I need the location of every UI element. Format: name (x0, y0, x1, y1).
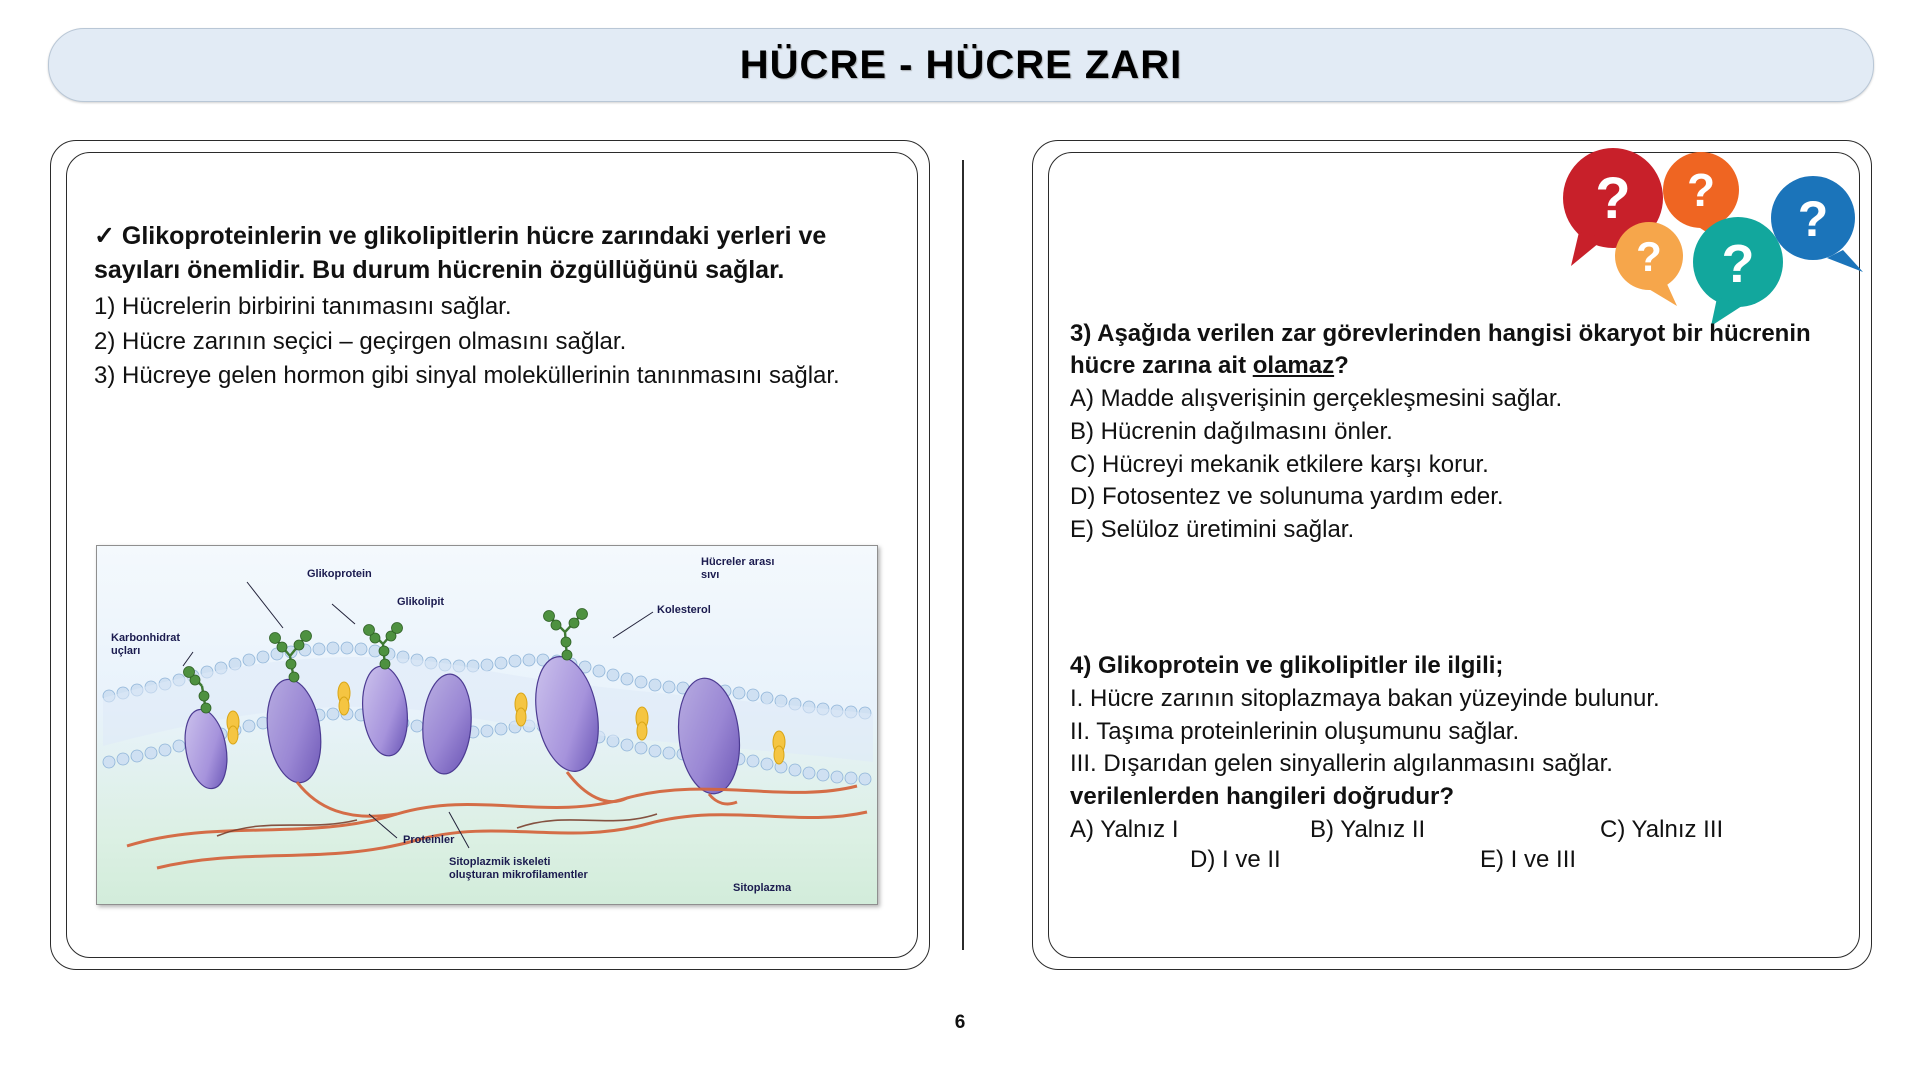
left-list-item-3: 3) Hücreye gelen hormon gibi sinyal mole… (94, 360, 894, 393)
page-title-banner: HÜCRE - HÜCRE ZARI (48, 28, 1874, 102)
figure-label-proteinler: Proteinler (403, 834, 454, 847)
figure-label-karbonhidrat-uclari: Karbonhidrat uçları (111, 632, 180, 658)
question-4-option-b[interactable]: B) Yalnız II (1310, 816, 1600, 844)
question-4-statement-3: III. Dışarıdan gelen sinyallerin algılan… (1070, 748, 1830, 781)
svg-text:?: ? (1595, 166, 1630, 231)
question-4-answers-row-1: A) Yalnız I B) Yalnız II C) Yalnız III (1070, 816, 1830, 844)
figure-label-kolesterol: Kolesterol (657, 604, 711, 617)
panel-divider (962, 160, 964, 950)
question-4-answers-row-2: D) I ve II E) I ve III (1070, 846, 1830, 874)
page-title: HÜCRE - HÜCRE ZARI (740, 43, 1182, 88)
question-4-option-a[interactable]: A) Yalnız I (1070, 816, 1310, 844)
question-4-stem: 4) Glikoprotein ve glikolipitler ile ilg… (1070, 650, 1830, 682)
bubble-light-orange: ? (1615, 222, 1683, 306)
question-bubbles-icon: ? ? ? ? ? (1555, 140, 1875, 330)
question-4-ask: verilenlerden hangileri doğrudur? (1070, 781, 1830, 814)
question-3-stem: 3) Aşağıda verilen zar görevlerinden han… (1070, 318, 1830, 382)
question-4-statement-1: I. Hücre zarının sitoplazmaya bakan yüze… (1070, 683, 1830, 716)
svg-text:?: ? (1636, 233, 1662, 280)
question-4-option-d[interactable]: D) I ve II (1190, 846, 1480, 874)
figure-label-sitoplazmik-iskelet: Sitoplazmik iskeleti oluşturan mikrofila… (449, 856, 588, 882)
question-3-option-a[interactable]: A) Madde alışverişinin gerçekleşmesini s… (1070, 383, 1830, 416)
question-3-option-b[interactable]: B) Hücrenin dağılmasını önler. (1070, 416, 1830, 449)
left-list-item-2: 2) Hücre zarının seçici – geçirgen olmas… (94, 326, 894, 359)
figure-label-glikolipit: Glikolipit (397, 596, 444, 609)
question-3-block: 3) Aşağıda verilen zar görevlerinden han… (1070, 318, 1830, 546)
question-4-block: 4) Glikoprotein ve glikolipitler ile ilg… (1070, 650, 1830, 874)
figure-label-hucreler-arasi-sivi: Hücreler arası sıvı (701, 556, 774, 582)
figure-label-sitoplazma: Sitoplazma (733, 882, 791, 895)
question-bubbles-svg: ? ? ? ? ? (1555, 140, 1875, 330)
svg-text:?: ? (1722, 234, 1755, 294)
bubble-blue: ? (1771, 176, 1863, 272)
page-number: 6 (0, 1012, 1920, 1034)
question-3-stem-emphasis: olamaz (1253, 352, 1334, 379)
left-lead-statement: ✓ Glikoproteinlerin ve glikolipitlerin h… (94, 220, 894, 287)
left-panel-text: ✓ Glikoproteinlerin ve glikolipitlerin h… (94, 220, 894, 393)
question-4-option-c[interactable]: C) Yalnız III (1600, 816, 1723, 844)
question-3-option-c[interactable]: C) Hücreyi mekanik etkilere karşı korur. (1070, 449, 1830, 482)
membrane-illustration-svg (97, 546, 878, 905)
question-3-stem-post: ? (1334, 352, 1349, 379)
question-3-option-e[interactable]: E) Selüloz üretimini sağlar. (1070, 514, 1830, 547)
svg-text:?: ? (1687, 164, 1715, 216)
question-3-stem-pre: 3) Aşağıda verilen zar görevlerinden han… (1070, 320, 1811, 379)
question-4-statement-2: II. Taşıma proteinlerinin oluşumunu sağl… (1070, 716, 1830, 749)
figure-label-glikoprotein: Glikoprotein (307, 568, 372, 581)
question-3-option-d[interactable]: D) Fotosentez ve solunuma yardım eder. (1070, 481, 1830, 514)
bubble-teal: ? (1693, 217, 1783, 326)
left-list-item-1: 1) Hücrelerin birbirini tanımasını sağla… (94, 291, 894, 324)
question-4-option-e[interactable]: E) I ve III (1480, 846, 1576, 874)
svg-text:?: ? (1798, 191, 1829, 247)
cell-membrane-diagram: Glikoprotein Glikolipit Karbonhidrat uçl… (96, 545, 878, 905)
